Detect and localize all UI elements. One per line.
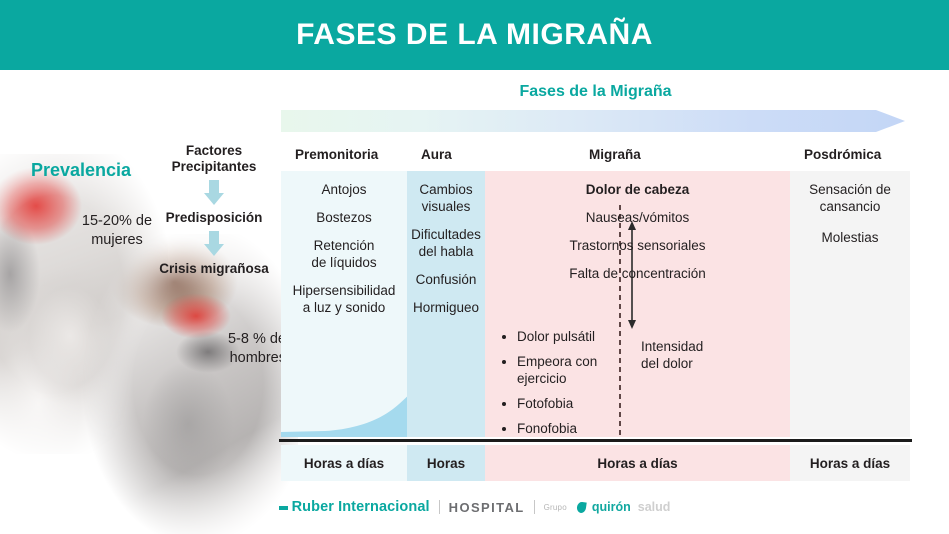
symptom-dificultades-l2: del habla	[419, 244, 474, 259]
symptom-confusion: Confusión	[407, 271, 485, 288]
duration-row: Horas a días Horas Horas a días Horas a …	[281, 445, 910, 481]
flow-step-predisposicion: Predisposición	[150, 210, 278, 226]
arrow-down-icon	[201, 180, 227, 206]
phase-header-posdromica: Posdrómica	[804, 140, 881, 168]
flow-step-factores-line2: Precipitantes	[150, 159, 278, 175]
phase-header-premonitoria: Premonitoria	[295, 140, 378, 168]
logo-quiron: quirón	[592, 500, 631, 514]
logo-hospital: HOSPITAL	[449, 500, 525, 515]
timeline-arrow-icon	[281, 108, 910, 134]
prevalence-title: Prevalencia	[31, 160, 131, 181]
symptom-sensacion-cansancio: Sensación de cansancio	[790, 181, 910, 215]
symptom-cambios-l1: Cambios	[419, 182, 472, 197]
phase-header-migrana: Migraña	[589, 140, 641, 168]
symptom-nauseas-vomitos: Nauseas/vómitos	[485, 209, 790, 226]
symptom-retencion-l1: Retención	[314, 238, 375, 253]
arrow-down-icon-2	[201, 231, 227, 257]
logo-ruber-internacional: Ruber Internacional	[292, 499, 430, 515]
symptom-dolor-de-cabeza: Dolor de cabeza	[485, 181, 790, 198]
symptom-sensacion-l1: Sensación de	[809, 182, 891, 197]
symptom-dificultades-l1: Dificultades	[411, 227, 481, 242]
bullet-dolor-pulsatil: Dolor pulsátil	[517, 328, 623, 345]
flow-step-factores-line1: Factores	[150, 143, 278, 159]
phase-symptoms-posdromica: Sensación de cansancio Molestias	[790, 181, 910, 246]
duration-aura: Horas	[407, 445, 485, 481]
logo-separator-2	[534, 500, 535, 514]
intensity-annotation: Intensidad del dolor	[641, 338, 727, 372]
symptom-cambios-l2: visuales	[422, 199, 471, 214]
duration-premonitoria: Horas a días	[281, 445, 407, 481]
footer-logo: Ruber Internacional HOSPITAL Grupo quiró…	[0, 496, 949, 518]
trigger-flow: Factores Precipitantes Predisposición Cr…	[150, 143, 278, 277]
title-banner: FASES DE LA MIGRAÑA	[0, 0, 949, 70]
symptom-falta-concentracion: Falta de concentración	[485, 265, 790, 282]
migraine-phases-chart: Fases de la Migraña Premonitoria Aura Mi…	[281, 83, 910, 493]
migrana-bullet-list: Dolor pulsátil Empeora con ejercicio Fot…	[503, 328, 623, 445]
intensity-annotation-l2: del dolor	[641, 355, 727, 372]
quironsalud-leaf-icon	[576, 501, 586, 513]
chart-baseline	[279, 439, 912, 442]
phase-symptoms-migrana: Dolor de cabeza Nauseas/vómitos Trastorn…	[485, 181, 790, 282]
duration-migrana: Horas a días	[485, 445, 790, 481]
phase-symptoms-aura: Cambios visuales Dificultades del habla …	[407, 181, 485, 316]
symptom-trastornos-sensoriales: Trastornos sensoriales	[485, 237, 790, 254]
page-title: FASES DE LA MIGRAÑA	[0, 0, 949, 70]
phase-symptoms-premonitoria: Antojos Bostezos Retención de líquidos H…	[281, 181, 407, 316]
symptom-dificultades-habla: Dificultades del habla	[407, 226, 485, 260]
flow-step-factores: Factores Precipitantes	[150, 143, 278, 175]
logo-grupo-label: Grupo	[544, 503, 567, 512]
bullet-fonofobia: Fonofobia	[517, 420, 623, 437]
bullet-empeora-ejercicio: Empeora con ejercicio	[517, 353, 623, 387]
duration-posdromica: Horas a días	[790, 445, 910, 481]
men-prevalence-stat: 5-8 % de hombres	[190, 330, 286, 368]
logo-separator-1	[439, 500, 440, 514]
ruber-dash-icon	[279, 506, 288, 510]
symptom-sensacion-l2: cansancio	[820, 199, 881, 214]
man-migraine-photo	[78, 234, 298, 534]
phase-header-row: Premonitoria Aura Migraña Posdrómica	[281, 140, 910, 168]
intensity-annotation-l1: Intensidad	[641, 338, 727, 355]
phase-header-aura: Aura	[421, 140, 452, 168]
symptom-bostezos: Bostezos	[281, 209, 407, 226]
chart-title: Fases de la Migraña	[281, 83, 910, 101]
logo-salud: salud	[638, 500, 671, 514]
symptom-retencion: Retención de líquidos	[281, 237, 407, 271]
symptom-hipersensibilidad-l1: Hipersensibilidad	[293, 283, 396, 298]
symptom-hormigueo: Hormigueo	[407, 299, 485, 316]
symptom-antojos: Antojos	[281, 181, 407, 198]
flow-step-crisis: Crisis migrañosa	[150, 261, 278, 277]
symptom-hipersensibilidad-l2: a luz y sonido	[303, 300, 386, 315]
symptom-retencion-l2: de líquidos	[311, 255, 376, 270]
bullet-fotofobia: Fotofobia	[517, 395, 623, 412]
symptom-cambios-visuales: Cambios visuales	[407, 181, 485, 215]
symptom-molestias: Molestias	[790, 229, 910, 246]
symptom-hipersensibilidad: Hipersensibilidad a luz y sonido	[281, 282, 407, 316]
